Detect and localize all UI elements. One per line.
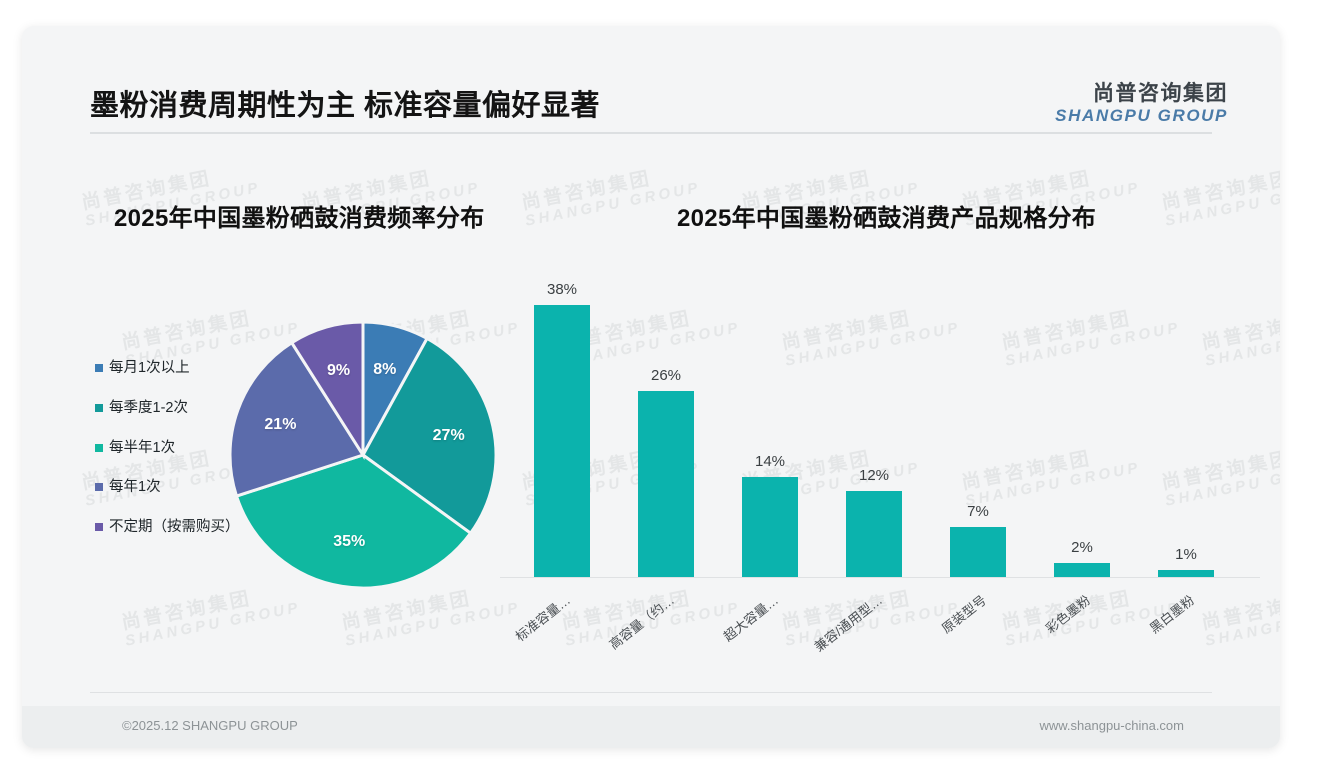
legend-item[interactable]: 每半年1次 [95, 438, 245, 460]
bar-rect[interactable] [742, 477, 798, 577]
bar-column[interactable]: 38% [534, 305, 590, 577]
legend-item[interactable]: 每年1次 [95, 477, 245, 499]
bar-rect[interactable] [950, 527, 1006, 577]
legend-color-swatch [95, 523, 103, 531]
bar-category-holder: 彩色墨粉 [1054, 582, 1110, 642]
bar-baseline-axis [500, 577, 1260, 578]
legend-color-swatch [95, 364, 103, 372]
pie-slice-label: 8% [373, 361, 396, 379]
bar-chart-panel: 38%标准容量…26%高容量（约…14%超大容量…12%兼容/通用型…7%原装型… [500, 258, 1260, 578]
bar-value-label: 7% [967, 503, 989, 520]
bar-category-label: 兼容/通用型… [810, 590, 886, 655]
logo-english-text: SHANGPU GROUP [1055, 106, 1228, 126]
pie-legend: 每月1次以上每季度1-2次每半年1次每年1次不定期（按需购买） [95, 358, 245, 557]
legend-item-label: 每月1次以上 [109, 358, 190, 380]
bar-value-label: 12% [859, 467, 889, 484]
watermark-text: 尚普咨询集团SHANGPU GROUP [520, 159, 702, 230]
bar-column[interactable]: 1% [1158, 570, 1214, 577]
bar-category-holder: 兼容/通用型… [846, 582, 902, 642]
bar-category-label: 彩色墨粉 [1041, 590, 1094, 637]
bar-column[interactable]: 26% [638, 391, 694, 577]
bar-category-holder: 黑白墨粉 [1158, 582, 1214, 642]
bar-column[interactable]: 12% [846, 491, 902, 577]
legend-color-swatch [95, 483, 103, 491]
pie-slice-label: 21% [264, 416, 296, 434]
bar-category-holder: 标准容量… [534, 582, 590, 642]
bar-category-holder: 原装型号 [950, 582, 1006, 642]
bar-column[interactable]: 2% [1054, 563, 1110, 577]
logo-chinese-text: 尚普咨询集团 [1055, 82, 1228, 106]
pie-chart-title: 2025年中国墨粉硒鼓消费频率分布 [114, 198, 485, 233]
pie-slice-label: 35% [333, 533, 365, 551]
bar-category-label: 黑白墨粉 [1145, 590, 1198, 637]
header-divider [90, 132, 1212, 134]
bar-rect[interactable] [638, 391, 694, 577]
pie-slice-label: 27% [433, 427, 465, 445]
legend-item[interactable]: 每月1次以上 [95, 358, 245, 380]
bar-value-label: 14% [755, 453, 785, 470]
legend-item-label: 每季度1-2次 [109, 398, 188, 420]
website-link[interactable]: www.shangpu-china.com [1039, 718, 1184, 733]
bar-value-label: 26% [651, 367, 681, 384]
legend-color-swatch [95, 444, 103, 452]
legend-item[interactable]: 不定期（按需购买） [95, 517, 245, 539]
bar-category-holder: 高容量（约… [638, 582, 694, 642]
legend-item-label: 每半年1次 [109, 438, 175, 460]
bar-value-label: 1% [1175, 546, 1197, 563]
legend-item-label: 每年1次 [109, 477, 161, 499]
pie-slice-label: 9% [327, 362, 350, 380]
slide-header: 墨粉消费周期性为主 标准容量偏好显著 尚普咨询集团 SHANGPU GROUP [22, 26, 1280, 122]
bottom-bar: ©2025.12 SHANGPU GROUP www.shangpu-china… [22, 706, 1280, 748]
slide-canvas: 尚普咨询集团SHANGPU GROUP尚普咨询集团SHANGPU GROUP尚普… [22, 26, 1280, 748]
footer-divider [90, 692, 1212, 693]
bar-rect[interactable] [534, 305, 590, 577]
pie-chart: 8%27%35%21%9% [228, 320, 498, 590]
legend-item-label: 不定期（按需购买） [109, 517, 240, 539]
brand-logo: 尚普咨询集团 SHANGPU GROUP [1055, 82, 1228, 126]
bar-category-label: 原装型号 [937, 590, 990, 637]
legend-color-swatch [95, 404, 103, 412]
bar-column[interactable]: 14% [742, 477, 798, 577]
bar-rect[interactable] [846, 491, 902, 577]
legend-item[interactable]: 每季度1-2次 [95, 398, 245, 420]
bar-chart-title: 2025年中国墨粉硒鼓消费产品规格分布 [677, 198, 1096, 233]
copyright-text: ©2025.12 SHANGPU GROUP [122, 718, 298, 733]
bar-rect[interactable] [1054, 563, 1110, 577]
bar-column[interactable]: 7% [950, 527, 1006, 577]
bar-category-label: 超大容量… [719, 590, 782, 645]
bar-value-label: 38% [547, 281, 577, 298]
bar-value-label: 2% [1071, 539, 1093, 556]
bar-rect[interactable] [1158, 570, 1214, 577]
watermark-text: 尚普咨询集团SHANGPU GROUP [1160, 159, 1280, 230]
bar-category-holder: 超大容量… [742, 582, 798, 642]
page-title: 墨粉消费周期性为主 标准容量偏好显著 [90, 82, 600, 124]
